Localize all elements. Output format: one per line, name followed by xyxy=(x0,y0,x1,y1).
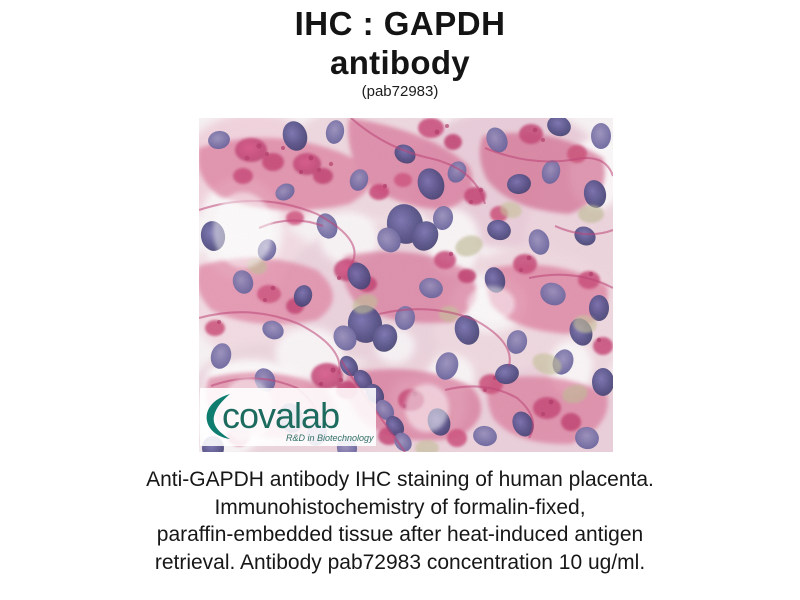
catalog-number: (pab72983) xyxy=(0,83,800,101)
caption-line-3: paraffin-embedded tissue after heat-indu… xyxy=(60,521,740,549)
caption-line-2: Immunohistochemistry of formalin-fixed, xyxy=(60,494,740,522)
title-line-primary: IHC : GAPDH xyxy=(0,4,800,44)
figure-caption: Anti-GAPDH antibody IHC staining of huma… xyxy=(60,466,740,576)
covalab-watermark: covalab R&D in Biotechnology xyxy=(200,388,376,446)
caption-line-4: retrieval. Antibody pab72983 concentrati… xyxy=(60,549,740,577)
logo-tagline: R&D in Biotechnology xyxy=(286,433,374,443)
covalab-logo: covalab R&D in Biotechnology xyxy=(200,388,376,446)
page-title: IHC : GAPDH antibody (pab72983) xyxy=(0,4,800,101)
title-line-secondary: antibody xyxy=(0,44,800,82)
caption-line-1: Anti-GAPDH antibody IHC staining of huma… xyxy=(60,466,740,494)
logo-wordmark: covalab xyxy=(222,395,339,436)
figure-page: IHC : GAPDH antibody (pab72983) xyxy=(0,0,800,600)
